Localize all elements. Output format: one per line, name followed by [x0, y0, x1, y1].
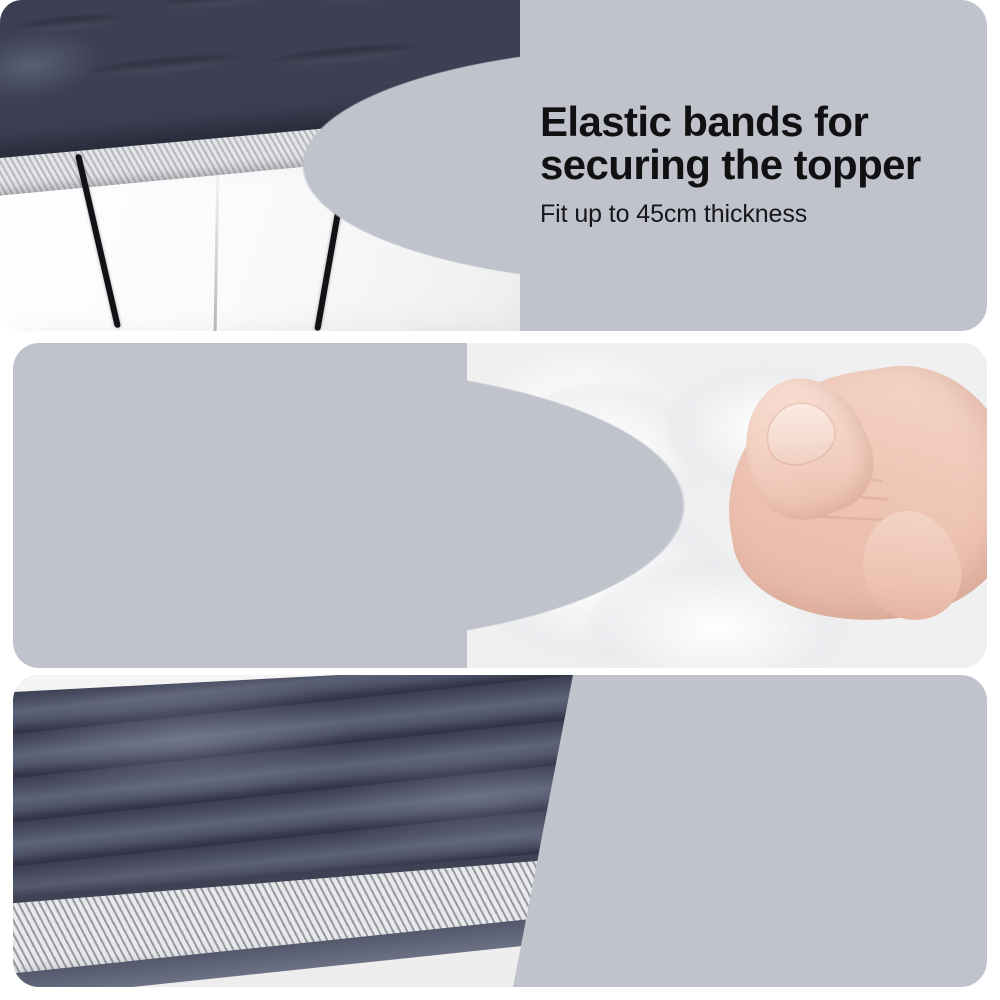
- panel-microfibre-filling: Innovative microfibre filing Soft and co…: [13, 343, 987, 668]
- topper-corner-photo: [0, 0, 520, 331]
- microfibre-photo: [467, 343, 987, 668]
- elastic-bands-subline: Fit up to 45cm thickness: [540, 199, 970, 229]
- quilted-topper-photo: [13, 675, 573, 987]
- tuft-seam: [14, 12, 124, 34]
- elastic-bands-text: Elastic bands for securing the topper Fi…: [540, 100, 970, 229]
- headline-line-1: Elastic bands for: [540, 98, 868, 145]
- panel-ultra-thick: Ultra thick Durable & long-lasting: [13, 675, 987, 987]
- infographic-page: Elastic bands for securing the topper Fi…: [0, 0, 1000, 1000]
- panel-elastic-bands: Elastic bands for securing the topper Fi…: [0, 0, 987, 331]
- tuft-seam: [269, 42, 419, 69]
- elastic-bands-headline: Elastic bands for securing the topper: [540, 100, 970, 187]
- tuft-seam: [159, 0, 279, 11]
- tuft-seam: [90, 52, 240, 79]
- tuft-seam: [313, 0, 428, 5]
- headline-line-2: securing the topper: [540, 143, 970, 186]
